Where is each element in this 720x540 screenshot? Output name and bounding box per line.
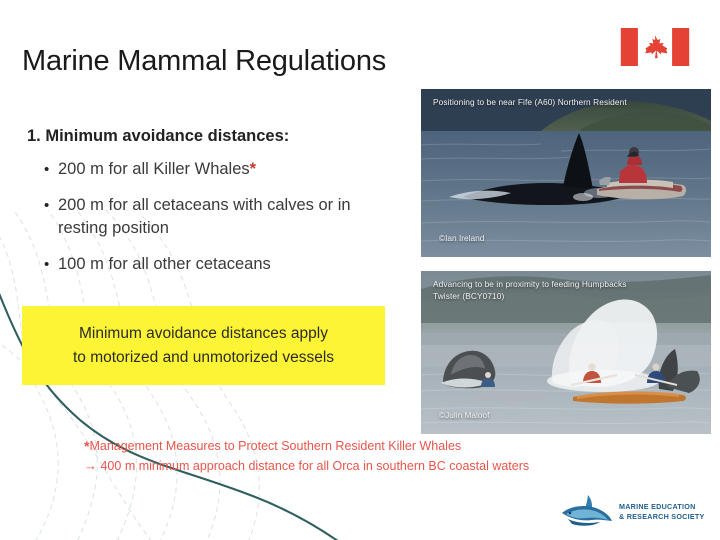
callout-text: Minimum avoidance distances apply to mot…	[61, 322, 346, 370]
bullet-marker: •	[44, 158, 58, 181]
bullet-marker: •	[44, 194, 58, 217]
canadian-flag-icon	[619, 27, 691, 67]
avoidance-distance-list: • 200 m for all Killer Whales* • 200 m f…	[44, 158, 394, 289]
photo-credit: ©Julin Maloof	[439, 410, 489, 420]
highlight-callout-box: Minimum avoidance distances apply to mot…	[22, 306, 385, 385]
callout-line-1: Minimum avoidance distances apply	[79, 325, 328, 342]
mers-logo: MARINE EDUCATION & RESEARCH SOCIETY	[558, 489, 708, 535]
photo-caption: Advancing to be in proximity to feeding …	[433, 279, 627, 302]
photo-caption: Positioning to be near Fife (A60) Northe…	[433, 97, 627, 109]
bullet-marker: •	[44, 253, 58, 276]
slide-canvas: Marine Mammal Regulations 1. Minimum avo…	[0, 0, 720, 540]
list-item: • 200 m for all Killer Whales*	[44, 158, 394, 181]
logo-text: MARINE EDUCATION & RESEARCH SOCIETY	[619, 502, 705, 521]
logo-text-line-2: & RESEARCH SOCIETY	[619, 512, 705, 522]
logo-text-line-1: MARINE EDUCATION	[619, 502, 705, 512]
section-heading: 1. Minimum avoidance distances:	[27, 127, 289, 146]
photo-credit: ©Ian Ireland	[439, 233, 484, 243]
photo-humpback-whales: Advancing to be in proximity to feeding …	[421, 271, 711, 434]
arrow-icon: →	[84, 458, 97, 473]
list-item-label: 200 m for all cetaceans with calves or i…	[58, 194, 394, 240]
photo-caption-line-1: Advancing to be in proximity to feeding …	[433, 279, 627, 289]
whale-icon	[558, 492, 614, 532]
footnote-line-2: → 400 m minimum approach distance for al…	[84, 456, 529, 476]
list-item: • 200 m for all cetaceans with calves or…	[44, 194, 394, 240]
list-item: • 100 m for all other cetaceans	[44, 253, 394, 276]
killer-whale-photo-illustration	[421, 89, 711, 257]
footnote: *Management Measures to Protect Southern…	[84, 437, 529, 476]
callout-line-2: to motorized and unmotorized vessels	[73, 349, 334, 366]
photo-caption-line-2: Twister (BCY0710)	[433, 291, 504, 301]
list-item-label: 100 m for all other cetaceans	[58, 253, 271, 276]
list-item-label: 200 m for all Killer Whales*	[58, 158, 256, 181]
page-title: Marine Mammal Regulations	[22, 45, 386, 78]
photo-killer-whale: Positioning to be near Fife (A60) Northe…	[421, 89, 711, 257]
asterisk-marker: *	[250, 160, 256, 178]
footnote-line-1: *Management Measures to Protect Southern…	[84, 437, 529, 456]
